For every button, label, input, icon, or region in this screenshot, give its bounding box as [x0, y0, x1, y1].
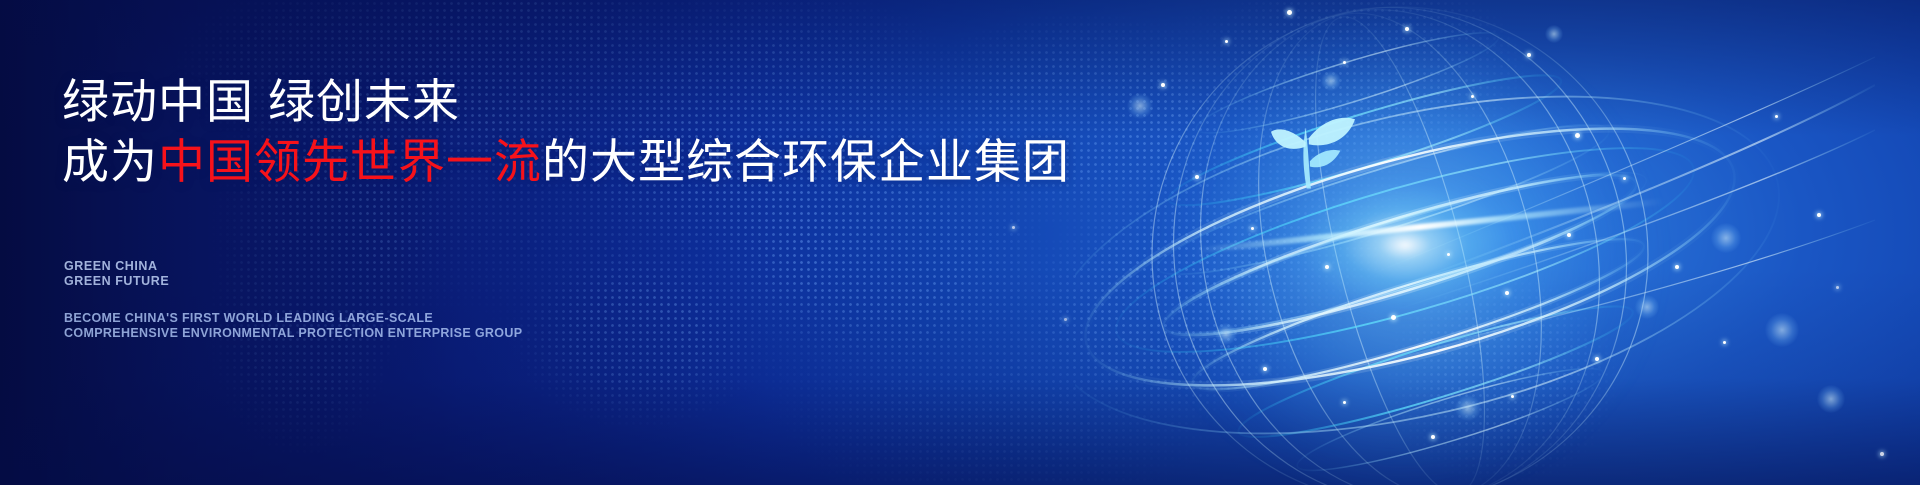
tagline-line-1: GREEN CHINA — [64, 259, 169, 274]
subcopy: BECOME CHINA'S FIRST WORLD LEADING LARGE… — [64, 311, 522, 341]
subcopy-line-2: COMPREHENSIVE ENVIRONMENTAL PROTECTION E… — [64, 326, 522, 341]
hero-banner: 绿动中国 绿创未来 成为中国领先世界一流的大型综合环保企业集团 GREEN CH… — [0, 0, 1920, 485]
headline-line-2-suffix: 的大型综合环保企业集团 — [542, 135, 1070, 188]
headline-line-2: 成为中国领先世界一流的大型综合环保企业集团 — [62, 134, 1022, 190]
tagline: GREEN CHINA GREEN FUTURE — [64, 259, 169, 289]
headline: 绿动中国 绿创未来 成为中国领先世界一流的大型综合环保企业集团 — [62, 74, 1022, 190]
subcopy-line-1: BECOME CHINA'S FIRST WORLD LEADING LARGE… — [64, 311, 522, 326]
banner-copy: 绿动中国 绿创未来 成为中国领先世界一流的大型综合环保企业集团 GREEN CH… — [58, 0, 1038, 485]
headline-line-2-prefix: 成为 — [62, 135, 158, 188]
headline-line-2-highlight: 中国领先世界一流 — [158, 135, 542, 188]
headline-line-1: 绿动中国 绿创未来 — [62, 74, 1022, 130]
tagline-line-2: GREEN FUTURE — [64, 274, 169, 289]
